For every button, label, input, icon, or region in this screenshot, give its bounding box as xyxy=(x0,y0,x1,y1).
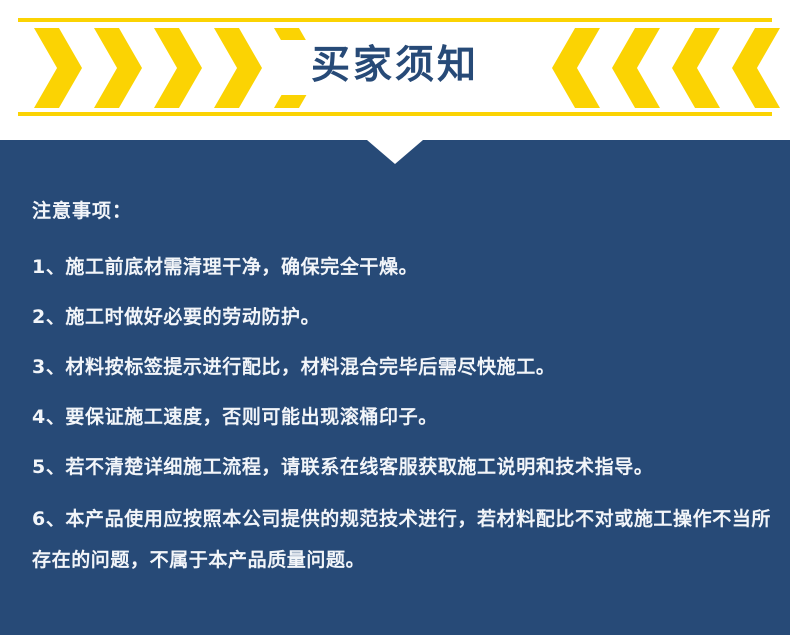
banner-top-rule xyxy=(18,18,772,22)
list-item: 5、若不清楚详细施工流程，请联系在线客服获取施工说明和技术指导。 xyxy=(32,449,772,486)
list-item: 2、施工时做好必要的劳动防护。 xyxy=(32,299,772,336)
chevron-right-icon xyxy=(34,28,82,108)
notice-list: 1、施工前底材需清理干净，确保完全干燥。 2、施工时做好必要的劳动防护。 3、材… xyxy=(32,249,772,581)
chevron-right-icon xyxy=(154,28,202,108)
list-item: 4、要保证施工速度，否则可能出现滚桶印子。 xyxy=(32,399,772,436)
banner-bottom-rule xyxy=(18,112,772,116)
chevron-right-icon xyxy=(274,28,322,108)
chevron-left-icon xyxy=(732,28,780,108)
chevron-right-icon xyxy=(94,28,142,108)
chevron-right-icon xyxy=(214,28,262,108)
notice-heading: 注意事项： xyxy=(32,196,772,223)
chevron-left-icon xyxy=(552,28,600,108)
notice-content: 注意事项： 1、施工前底材需清理干净，确保完全干燥。 2、施工时做好必要的劳动防… xyxy=(32,196,772,581)
notice-panel: 注意事项： 1、施工前底材需清理干净，确保完全干燥。 2、施工时做好必要的劳动防… xyxy=(0,140,790,635)
chevron-left-icon xyxy=(612,28,660,108)
buyer-notice-page: 买家须知 注意事项： 1、施工前底材需清理干净，确保完全干燥。 2、施工时做好必… xyxy=(0,0,790,635)
header-banner: 买家须知 xyxy=(0,0,790,140)
chevron-left-icon xyxy=(672,28,720,108)
list-item: 3、材料按标签提示进行配比，材料混合完毕后需尽快施工。 xyxy=(32,349,772,386)
list-item: 1、施工前底材需清理干净，确保完全干燥。 xyxy=(32,249,772,286)
panel-notch-arrow xyxy=(367,140,423,164)
list-item: 6、本产品使用应按照本公司提供的规范技术进行，若材料配比不对或施工操作不当所存在… xyxy=(32,499,772,581)
